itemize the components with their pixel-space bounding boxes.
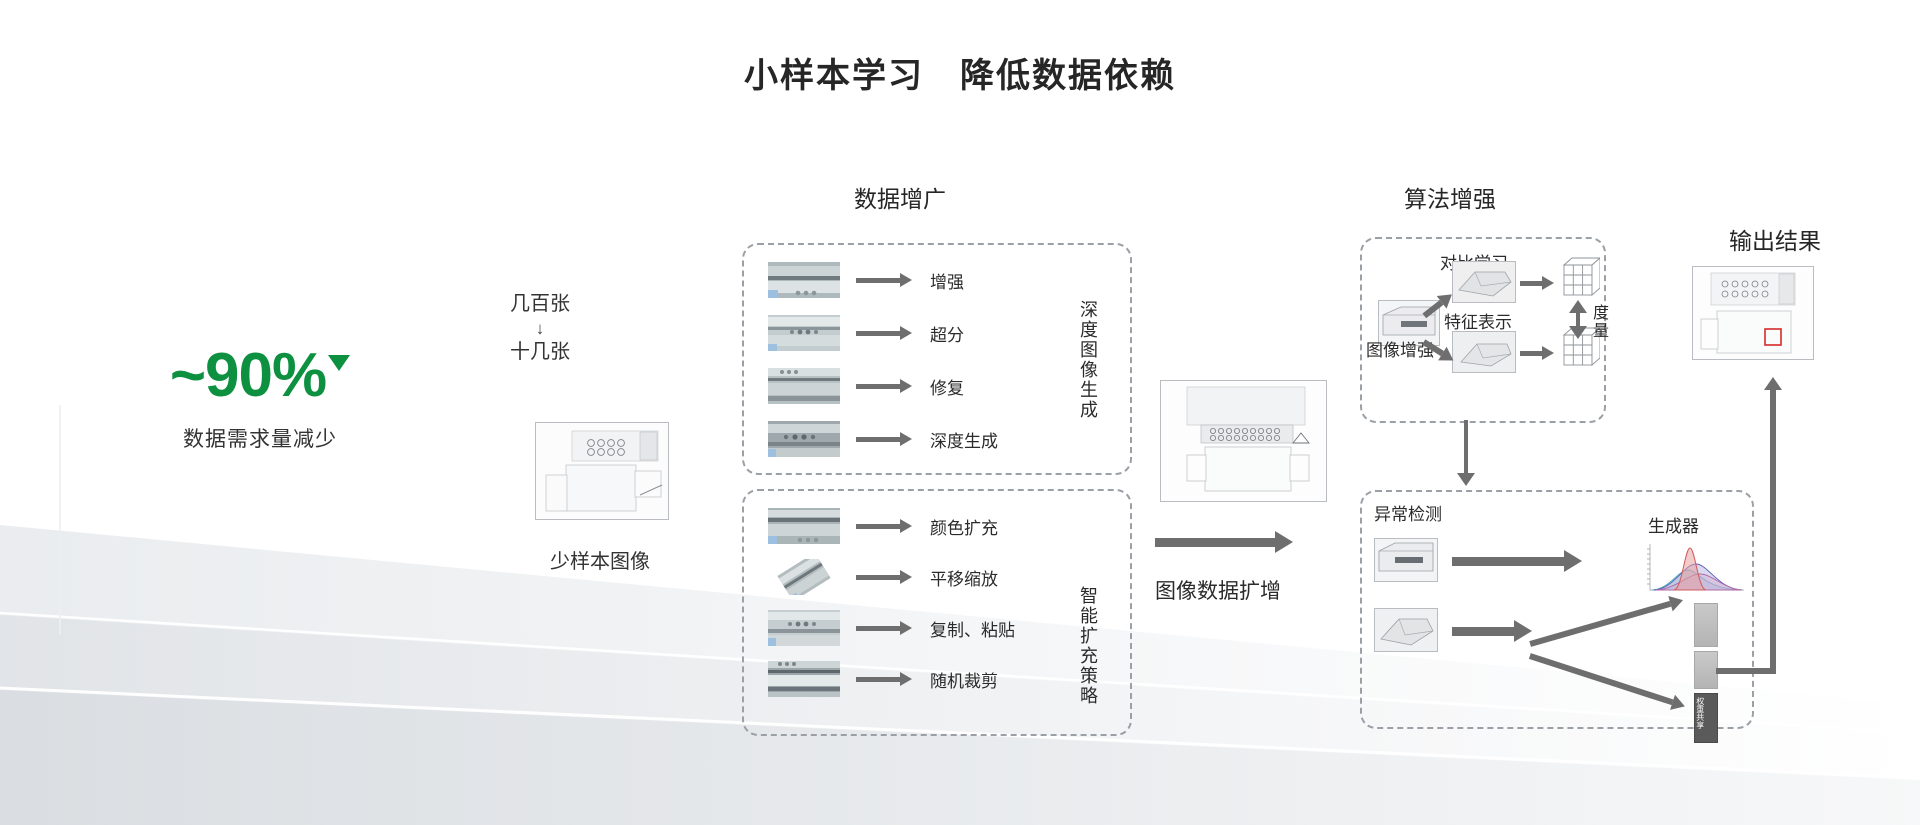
algorithm-title: 算法增强 <box>1300 180 1600 214</box>
aug-item-label: 随机裁剪 <box>930 667 998 692</box>
arrow-to-cube-bottom-icon <box>1520 348 1554 358</box>
arrow-icon <box>856 572 912 582</box>
aug-row-1: 增强 <box>768 262 964 298</box>
fewshot-to: 十几张 <box>430 338 650 367</box>
fewshot-counts: 几百张 ↓ 十几张 <box>430 290 650 367</box>
return-path-arrow-icon <box>1764 377 1782 390</box>
aug-thumbnail-rotated <box>768 559 840 595</box>
output-result-image <box>1692 266 1814 360</box>
aug-thumbnail <box>768 262 840 298</box>
aug-row-7: 复制、粘贴 <box>768 610 1015 646</box>
stat-block: ~90% 数据需求量减少 <box>120 345 400 453</box>
aug-row-6: 平移缩放 <box>768 559 998 595</box>
fewshot-caption: 少样本图像 <box>470 545 730 574</box>
smart-strategy-label: 智能扩充策略 <box>1072 570 1098 722</box>
aug-item-label: 修复 <box>930 374 964 399</box>
fewshot-from: 几百张 <box>430 290 650 319</box>
arrow-icon <box>856 328 912 338</box>
return-path-vertical <box>1770 390 1776 674</box>
return-path-horizontal <box>1716 668 1776 674</box>
aug-item-label: 复制、粘贴 <box>930 616 1015 641</box>
aug-thumbnail <box>768 315 840 351</box>
panel-connector-arrow-icon <box>1457 473 1475 486</box>
anomaly-input-image-top <box>1374 538 1438 582</box>
aug-row-5: 颜色扩充 <box>768 508 998 544</box>
anomaly-input-image-bottom <box>1374 608 1438 652</box>
feature-representation-label: 特征表示 <box>1444 308 1512 333</box>
arrow-icon <box>856 674 912 684</box>
panel-connector-line <box>1464 420 1468 475</box>
weight-sharing-block: 权重共享 <box>1694 693 1718 743</box>
triangle-down-icon <box>328 355 350 371</box>
anomaly-arrow-top-icon <box>1452 554 1582 568</box>
pipeline-caption: 图像数据扩增 <box>1155 575 1281 605</box>
down-arrow-icon: ↓ <box>430 320 650 337</box>
generator-label: 生成器 <box>1648 512 1699 537</box>
arrow-icon <box>856 381 912 391</box>
aug-row-4: 深度生成 <box>768 421 998 457</box>
stat-caption: 数据需求量减少 <box>120 423 400 453</box>
aug-row-8: 随机裁剪 <box>768 661 998 697</box>
arrow-icon <box>856 623 912 633</box>
aug-thumbnail <box>768 508 840 544</box>
deep-image-generation-label: 深度图像生成 <box>1072 275 1098 445</box>
feature-sample-image-top <box>1452 261 1516 303</box>
network-block-2 <box>1694 651 1718 689</box>
arrow-to-cube-top-icon <box>1520 278 1554 288</box>
aug-row-2: 超分 <box>768 315 964 351</box>
aug-item-label: 超分 <box>930 321 964 346</box>
data-aug-title: 数据增广 <box>790 180 1010 214</box>
network-block-1 <box>1694 603 1718 647</box>
pipeline-arrow-icon <box>1155 535 1295 549</box>
arrow-icon <box>856 521 912 531</box>
arrow-icon <box>856 434 912 444</box>
aug-item-label: 增强 <box>930 268 964 293</box>
output-title: 输出结果 <box>1660 222 1890 256</box>
metric-label: 度量 <box>1586 296 1608 348</box>
aug-thumbnail <box>768 421 840 457</box>
aug-thumbnail <box>768 610 840 646</box>
aug-item-label: 深度生成 <box>930 427 998 452</box>
aug-row-3: 修复 <box>768 368 964 404</box>
stat-value: ~90% <box>170 345 326 407</box>
anomaly-detection-label: 异常检测 <box>1374 500 1442 525</box>
aug-item-label: 颜色扩充 <box>930 514 998 539</box>
fewshot-sample-image <box>535 422 669 520</box>
page-title: 小样本学习 降低数据依赖 <box>0 48 1920 97</box>
feature-sample-image-bottom <box>1452 331 1516 373</box>
augmented-dataset-image <box>1160 380 1327 502</box>
aug-item-label: 平移缩放 <box>930 565 998 590</box>
metric-line <box>1576 311 1580 327</box>
aug-thumbnail <box>768 368 840 404</box>
anomaly-arrow-bottom-icon <box>1452 624 1532 638</box>
generator-distribution-chart <box>1640 540 1748 596</box>
arrow-icon <box>856 275 912 285</box>
aug-thumbnail <box>768 661 840 697</box>
metric-arrow-down-icon <box>1569 326 1587 339</box>
weight-sharing-label: 权重共享 <box>1695 694 1704 729</box>
